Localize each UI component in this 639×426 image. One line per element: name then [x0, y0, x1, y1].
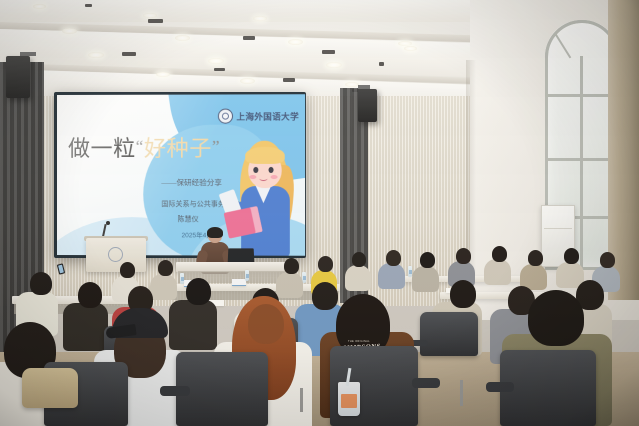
audience-table-skirt	[152, 291, 338, 300]
person-hair	[492, 246, 507, 262]
downlight	[240, 78, 255, 84]
university-logo: 上海外国语大学	[218, 108, 299, 123]
person-hair	[284, 258, 299, 274]
phone-screen	[58, 264, 64, 273]
downlight	[345, 82, 359, 87]
downlight	[156, 72, 170, 77]
person-hair	[120, 262, 135, 278]
backpack	[22, 368, 78, 408]
downlight	[253, 16, 267, 21]
person-torso	[378, 263, 405, 289]
window-mullion-vertical	[580, 56, 583, 270]
drink-cup-label	[341, 394, 357, 408]
ceiling-fixture	[214, 68, 225, 71]
whiteboard-tray-line	[544, 228, 572, 229]
downlight	[62, 28, 77, 34]
university-name: 上海外国语大学	[236, 110, 299, 122]
wall-speaker-right	[358, 89, 377, 122]
person-torso	[412, 266, 439, 292]
audience-chair-front	[500, 350, 596, 426]
person-hair	[386, 250, 401, 266]
chair-leg	[300, 388, 303, 412]
chair-leg	[460, 380, 463, 406]
person-hair	[564, 248, 579, 264]
slide-title-quote-close: ”	[212, 137, 220, 156]
person-hair	[158, 260, 173, 276]
person-hair	[30, 272, 52, 295]
downlight	[404, 46, 417, 51]
slide-title: 做一粒“好种子”	[68, 138, 220, 160]
chair-armrest	[160, 386, 190, 396]
illustration-smile	[259, 176, 267, 181]
downlight	[143, 13, 157, 18]
downlight	[33, 4, 46, 9]
presenter-laptop-screen	[228, 248, 255, 263]
person-hair	[600, 252, 615, 268]
person-torso	[63, 303, 108, 351]
chair-armrest	[486, 382, 514, 392]
slide-title-plain: 做一粒	[68, 136, 136, 161]
ceiling-fixture	[243, 36, 255, 40]
slide-subtitle: ——保研经验分享	[161, 177, 222, 188]
ceiling-fixture	[85, 4, 92, 7]
slide-speaker-name: 陈慧仪	[177, 214, 198, 224]
person-hair	[528, 250, 543, 266]
person-torso	[169, 300, 217, 350]
person-torso	[150, 274, 177, 300]
slide-title-highlight: 好种子	[144, 136, 212, 161]
ceiling-fixture	[322, 50, 335, 54]
jacket-small-text: THE ORIGINAL	[348, 340, 370, 343]
chair-armrest	[412, 378, 440, 388]
person-hair	[420, 252, 435, 268]
downlight	[175, 35, 190, 41]
illustration-blush-left	[249, 175, 256, 179]
person-torso	[345, 265, 371, 291]
slide-title-quote-open: “	[136, 137, 144, 156]
ceiling-fixture	[379, 62, 384, 66]
ceiling-slab-1	[0, 0, 470, 22]
person-torso	[484, 259, 511, 285]
person-hair	[318, 256, 333, 272]
illustration-fringe	[245, 147, 285, 164]
ceiling-fixture	[283, 78, 295, 82]
ceiling-fixture	[148, 19, 163, 23]
podium-emblem	[108, 247, 123, 262]
illustration-eye-right	[269, 167, 274, 173]
podium-microphone-icon	[106, 221, 110, 225]
water-bottle	[180, 273, 184, 284]
water-bottle	[245, 270, 249, 281]
downlight	[326, 62, 342, 68]
person-hair	[456, 248, 471, 264]
ceiling-fixture	[122, 52, 136, 56]
illustration-eye-left	[253, 167, 258, 173]
person-hair	[352, 252, 366, 267]
graduate-girl-illustration	[232, 139, 299, 256]
wall-speaker-left	[6, 56, 30, 98]
illustration-blush-right	[271, 175, 278, 179]
lecture-hall-photo: 上海外国语大学 做一粒“好种子” ——保研经验分享 国际关系与公共事务学院 陈慧…	[0, 0, 639, 426]
university-seal-icon	[218, 109, 233, 124]
person-hair	[528, 290, 584, 346]
person-torso	[276, 272, 303, 298]
person-hair	[450, 280, 476, 308]
person-hair	[78, 282, 102, 308]
person-head	[248, 304, 284, 344]
person-hair	[312, 282, 338, 310]
presentation-slide: 上海外国语大学 做一粒“好种子” ——保研经验分享 国际关系与公共事务学院 陈慧…	[57, 94, 305, 255]
audience-chair	[420, 312, 478, 356]
person-hair	[186, 278, 211, 305]
table-nameplate	[232, 279, 246, 286]
downlight	[208, 58, 224, 64]
downlight	[88, 52, 104, 58]
presenter-hair	[207, 227, 223, 238]
downlight	[288, 39, 303, 45]
